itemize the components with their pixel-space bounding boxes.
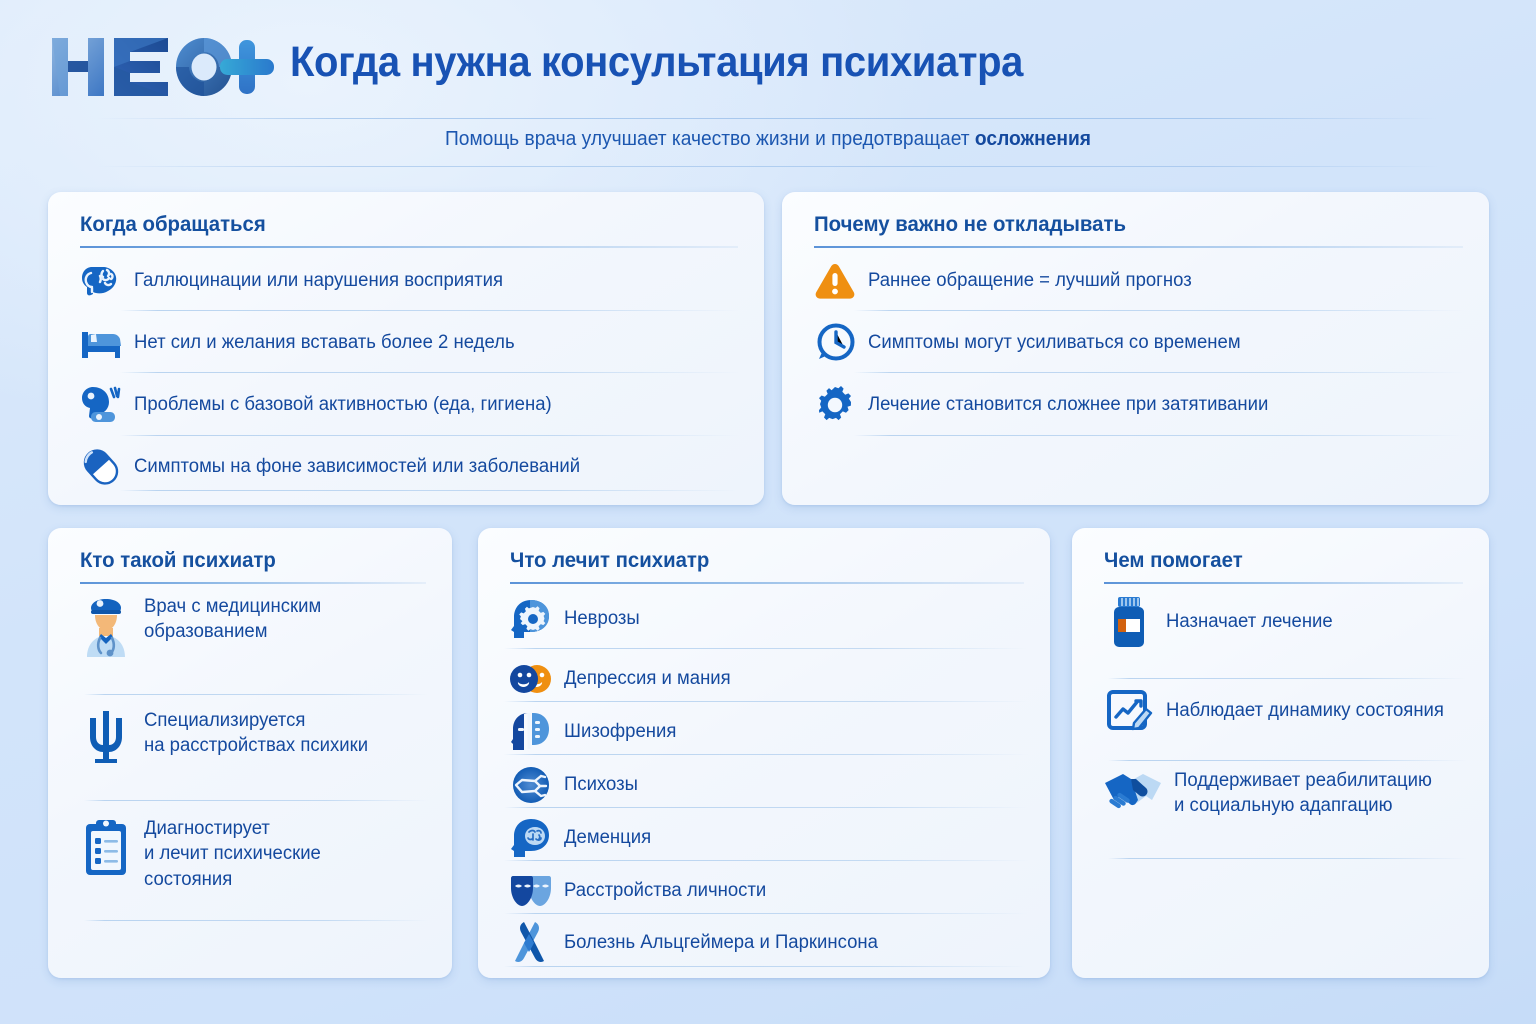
self-care-icon	[78, 382, 124, 428]
row-divider	[1108, 678, 1467, 679]
list-item-label: Неврозы	[564, 606, 640, 631]
pill-bottle-icon	[1102, 594, 1156, 650]
list-item-label: Симптомы могут усиливаться со временем	[868, 330, 1241, 355]
doctor-icon	[78, 594, 134, 658]
list-item-label: Галлюцинации или нарушения восприятия	[134, 268, 503, 293]
neo-plus-logo	[48, 34, 278, 100]
clipboard-icon	[78, 816, 134, 878]
card-rule	[80, 582, 426, 584]
card-who-is-psychiatrist: Кто такой психиатр Врач с медицинскимобр…	[48, 528, 452, 978]
page-subtitle-plain: Помощь врача улучшает качество жизни и п…	[445, 128, 975, 150]
list-item-label: Проблемы с базовой активностью (еда, гиг…	[134, 392, 552, 417]
page-subtitle-emphasis: осложнения	[975, 128, 1091, 150]
list-item-label: Диагностируети лечит психические состоян…	[144, 816, 407, 892]
header-divider-top	[96, 118, 1440, 119]
row-divider	[504, 913, 1028, 914]
row-divider	[120, 435, 740, 436]
row-divider	[504, 860, 1028, 861]
two-faces-icon	[508, 656, 554, 702]
list-item-label: Болезнь Альцгеймера и Паркинсона	[564, 930, 878, 955]
list-item-label: Нет сил и желания вставать более 2 недел…	[134, 330, 515, 355]
infographic-page: Когда нужна консультация психиатра Помощ…	[0, 0, 1536, 1024]
row-divider	[1108, 858, 1467, 859]
card-when-to-see: Когда обращаться Галлюцинации или наруше…	[48, 192, 764, 505]
psi-icon	[78, 708, 134, 764]
list-item-label: Деменция	[564, 825, 651, 850]
list-item-label: Поддерживает реабилитациюи социальную ад…	[1174, 768, 1457, 819]
row-divider	[504, 701, 1028, 702]
card-rule	[1104, 582, 1463, 584]
ribbon-icon	[508, 920, 554, 966]
capsule-icon	[78, 444, 124, 490]
row-divider	[854, 435, 1465, 436]
list-item[interactable]: Назначает лечение	[1102, 594, 1337, 650]
row-divider	[504, 648, 1028, 649]
card-rule	[80, 246, 738, 248]
card-rule	[510, 582, 1024, 584]
row-divider	[84, 920, 428, 921]
card-title-how-helps: Чем помогает	[1104, 549, 1243, 573]
clock-icon	[812, 320, 858, 366]
list-item[interactable]: Шизофрения	[508, 709, 679, 755]
list-item[interactable]: Депрессия и мания	[508, 656, 735, 702]
handshake-icon	[1102, 768, 1164, 820]
brain-icon	[78, 258, 124, 304]
list-item-label: Раннее обращение = лучший прогноз	[868, 268, 1192, 293]
head-gear-icon	[508, 596, 554, 642]
list-item-label: Наблюдает динамику состояния	[1166, 698, 1444, 723]
card-title-who-is-psychiatrist: Кто такой психиатр	[80, 549, 276, 573]
list-item[interactable]: Диагностируети лечит психические состоян…	[78, 816, 414, 892]
masks-icon	[508, 868, 554, 914]
page-title: Когда нужна консультация психиатра	[290, 38, 1023, 87]
list-item-label: Психозы	[564, 772, 638, 797]
list-item[interactable]: Лечение становится сложнее при затятиван…	[812, 382, 1279, 428]
list-item[interactable]: Врач с медицинскимобразованием	[78, 594, 394, 658]
list-item[interactable]: Раннее обращение = лучший прогноз	[812, 258, 1200, 304]
row-divider	[120, 372, 740, 373]
row-divider	[504, 807, 1028, 808]
dementia-head-icon	[508, 815, 554, 861]
card-title-when-to-see: Когда обращаться	[80, 213, 266, 237]
list-item[interactable]: Симптомы на фоне зависимостей или заболе…	[78, 444, 592, 490]
card-rule	[814, 246, 1463, 248]
list-item-label: Шизофрения	[564, 719, 676, 744]
card-how-helps: Чем помогает Назначает лечение	[1072, 528, 1489, 978]
list-item[interactable]: Проблемы с базовой активностью (еда, гиг…	[78, 382, 562, 428]
list-item[interactable]: Поддерживает реабилитациюи социальную ад…	[1102, 768, 1464, 820]
list-item[interactable]: Расстройства личности	[508, 868, 771, 914]
row-divider	[84, 694, 428, 695]
list-item-label: Специализируетсяна расстройствах психики	[144, 708, 388, 759]
list-item-label: Врач с медицинскимобразованием	[144, 594, 388, 645]
list-item[interactable]: Симптомы могут усиливаться со временем	[812, 320, 1250, 366]
page-subtitle: Помощь врача улучшает качество жизни и п…	[31, 128, 1506, 151]
card-why-not-delay: Почему важно не откладывать Раннее обращ…	[782, 192, 1489, 505]
list-item[interactable]: Нет сил и желания вставать более 2 недел…	[78, 320, 524, 366]
warning-triangle-icon	[812, 258, 858, 304]
card-title-why-not-delay: Почему важно не откладывать	[814, 213, 1126, 237]
list-item-label: Лечение становится сложнее при затятиван…	[868, 392, 1268, 417]
list-item[interactable]: Галлюцинации или нарушения восприятия	[78, 258, 512, 304]
list-item[interactable]: Специализируетсяна расстройствах психики	[78, 708, 394, 764]
gear-icon	[812, 382, 858, 428]
list-item-label: Депрессия и мания	[564, 666, 731, 691]
list-item-label: Симптомы на фоне зависимостей или заболе…	[134, 454, 580, 479]
split-head-icon	[508, 709, 554, 755]
list-item[interactable]: Неврозы	[508, 596, 642, 642]
row-divider	[84, 800, 428, 801]
list-item-label: Назначает лечение	[1166, 609, 1333, 634]
card-title-what-treats: Что лечит психиатр	[510, 549, 709, 573]
header-divider-bottom	[96, 166, 1440, 167]
row-divider	[504, 966, 1028, 967]
row-divider	[504, 754, 1028, 755]
page-header: Когда нужна консультация психиатра Помощ…	[0, 0, 1536, 170]
chart-monitor-icon	[1102, 688, 1156, 734]
list-item[interactable]: Наблюдает динамику состояния	[1102, 688, 1451, 734]
row-divider	[1108, 760, 1467, 761]
card-what-treats: Что лечит психиатр Неврозы	[478, 528, 1050, 978]
psychosis-head-icon	[508, 762, 554, 808]
list-item-label: Расстройства личности	[564, 878, 766, 903]
bed-icon	[78, 320, 124, 366]
list-item[interactable]: Психозы	[508, 762, 640, 808]
row-divider	[854, 310, 1465, 311]
list-item[interactable]: Болезнь Альцгеймера и Паркинсона	[508, 920, 886, 966]
row-divider	[120, 310, 740, 311]
row-divider	[120, 490, 740, 491]
list-item[interactable]: Деменция	[508, 815, 653, 861]
row-divider	[854, 372, 1465, 373]
